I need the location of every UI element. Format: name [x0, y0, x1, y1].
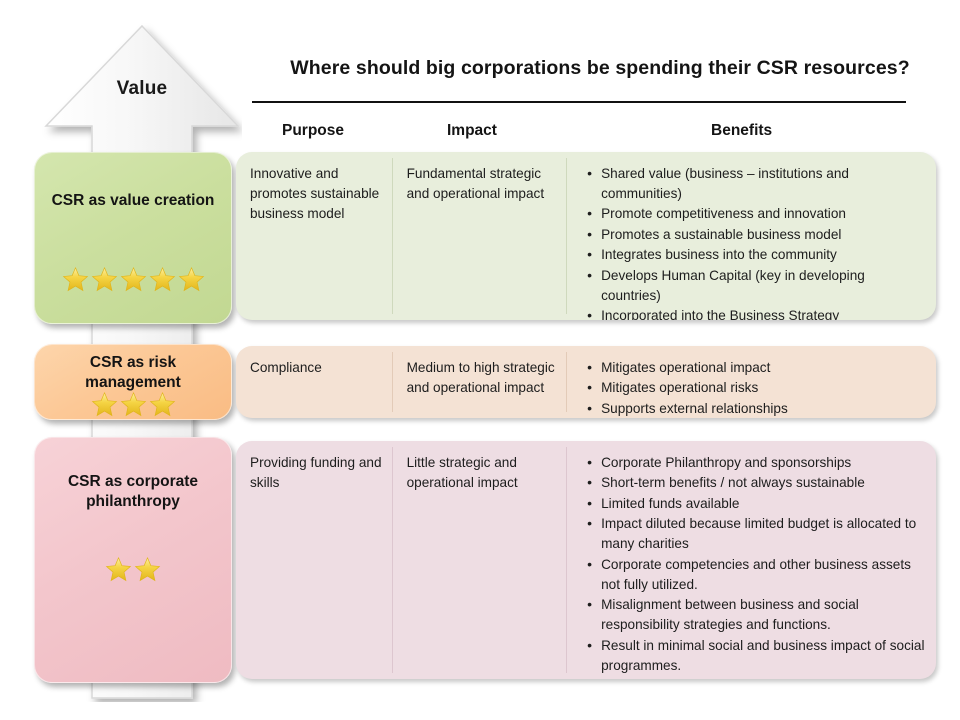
benefit-item: Shared value (business – institutions an…	[601, 164, 926, 204]
benefit-item: Short-term benefits / not always sustain…	[601, 473, 926, 493]
benefit-item: Incorporated into the Business Strategy	[601, 306, 926, 320]
content-panel-risk-management: Compliance Medium to high strategic and …	[236, 346, 936, 418]
benefits-list: Shared value (business – institutions an…	[575, 164, 926, 320]
cell-purpose: Compliance	[236, 346, 392, 418]
benefit-item: Result in minimal social and business im…	[601, 636, 926, 676]
content-panel-value-creation: Innovative and promotes sustainable busi…	[236, 152, 936, 320]
cell-impact: Little strategic and operational impact	[393, 441, 567, 679]
benefit-item: Promotes a sustainable business model	[601, 225, 926, 245]
benefit-item: Corporate Philanthropy and sponsorships	[601, 453, 926, 473]
benefit-item: Corporate competencies and other busines…	[601, 555, 926, 595]
page-title: Where should big corporations be spendin…	[250, 57, 950, 80]
star-rating-5	[35, 266, 231, 293]
star-icon	[149, 266, 176, 293]
cell-impact: Medium to high strategic and operational…	[393, 346, 567, 418]
benefit-item: Limited funds available	[601, 494, 926, 514]
content-panel-corporate-philanthropy: Providing funding and skills Little stra…	[236, 441, 936, 679]
star-icon	[91, 266, 118, 293]
label-card-risk-management[interactable]: CSR as risk management	[34, 344, 232, 420]
star-rating-2	[35, 556, 231, 583]
label-card-value-creation[interactable]: CSR as value creation	[34, 152, 232, 324]
benefit-item: Promote competitiveness and innovation	[601, 204, 926, 224]
benefit-item: Develops Human Capital (key in developin…	[601, 266, 926, 306]
benefit-item: Mitigates operational impact	[601, 358, 926, 378]
benefits-list: Mitigates operational impactMitigates op…	[575, 358, 926, 418]
cell-purpose: Providing funding and skills	[236, 441, 392, 679]
star-icon	[134, 556, 161, 583]
label-card-title: CSR as risk management	[49, 353, 218, 393]
star-icon	[91, 391, 118, 418]
star-icon	[120, 266, 147, 293]
column-header-impact: Impact	[447, 122, 497, 140]
benefit-item: Supports external relationships	[601, 399, 926, 418]
star-icon	[120, 391, 147, 418]
star-icon	[62, 266, 89, 293]
cell-purpose: Innovative and promotes sustainable busi…	[236, 152, 392, 320]
benefit-item: Misalignment between business and social…	[601, 595, 926, 635]
star-icon	[105, 556, 132, 583]
benefits-list: Corporate Philanthropy and sponsorshipsS…	[575, 453, 926, 676]
title-divider	[252, 101, 906, 103]
column-header-purpose: Purpose	[282, 122, 344, 140]
cell-benefits: Corporate Philanthropy and sponsorshipsS…	[567, 441, 936, 679]
benefit-item: Integrates business into the community	[601, 245, 926, 265]
column-header-benefits: Benefits	[711, 122, 772, 140]
cell-impact: Fundamental strategic and operational im…	[393, 152, 567, 320]
benefit-item: Impact diluted because limited budget is…	[601, 514, 926, 554]
arrow-label: Value	[42, 78, 242, 100]
cell-benefits: Shared value (business – institutions an…	[567, 152, 936, 320]
label-card-corporate-philanthropy[interactable]: CSR as corporate philanthropy	[34, 437, 232, 683]
star-rating-3	[35, 391, 231, 418]
label-card-title: CSR as corporate philanthropy	[49, 472, 218, 512]
column-headers: Purpose Impact Benefits	[236, 122, 936, 146]
label-card-title: CSR as value creation	[49, 191, 218, 211]
star-icon	[149, 391, 176, 418]
star-icon	[178, 266, 205, 293]
cell-benefits: Mitigates operational impactMitigates op…	[567, 346, 936, 418]
benefit-item: Mitigates operational risks	[601, 378, 926, 398]
